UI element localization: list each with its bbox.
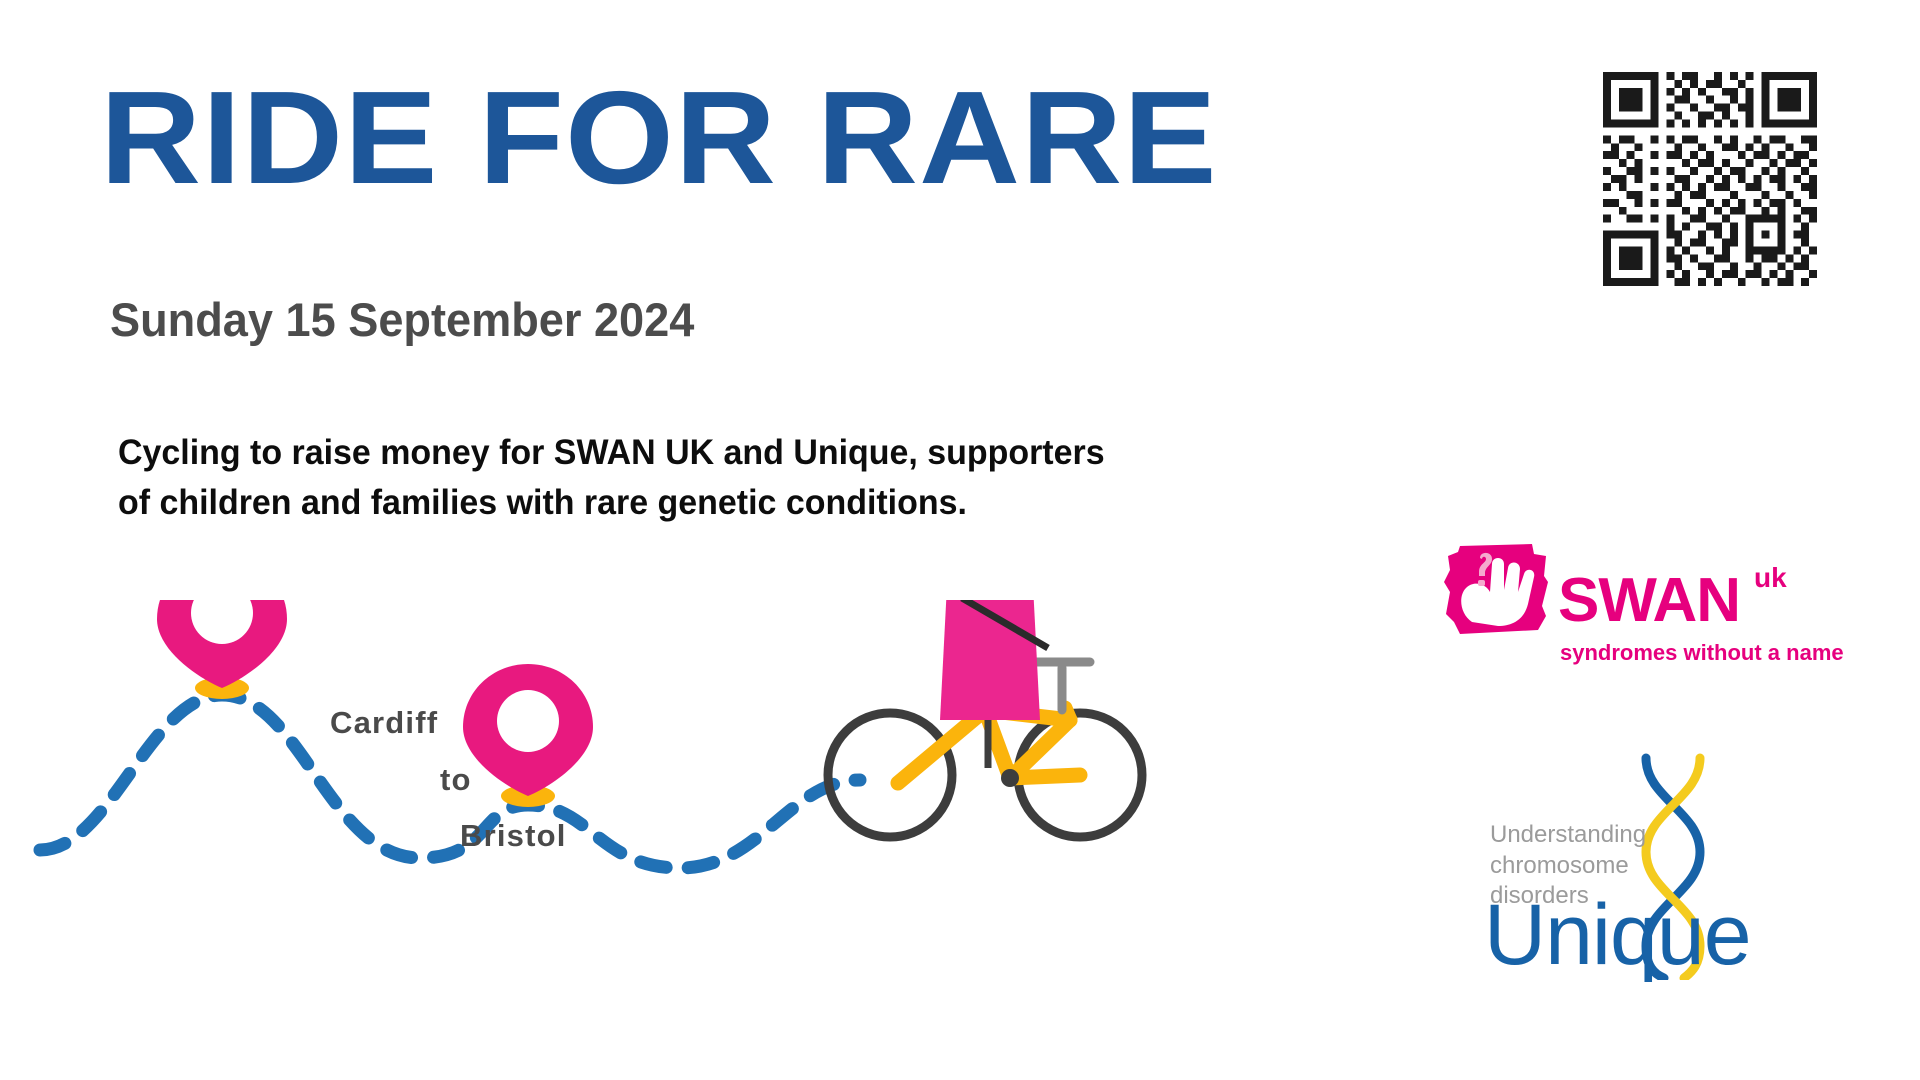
unique-wordmark: Unique <box>1484 892 1751 978</box>
qr-code[interactable] <box>1595 64 1825 294</box>
bike-rear-wheel <box>828 713 952 837</box>
unique-logo[interactable]: Understanding chromosome disorders Uniqu… <box>1478 752 1798 980</box>
page-title: RIDE FOR RARE <box>100 72 1218 204</box>
bike-crank <box>1001 769 1019 787</box>
event-description: Cycling to raise money for SWAN UK and U… <box>118 428 1437 527</box>
poster-canvas: RIDE FOR RARE Sunday 15 September 2024 C… <box>0 0 1920 1080</box>
swan-uk-logo[interactable]: SWAN uk syndromes without a name <box>1442 542 1812 687</box>
pin-cardiff <box>157 600 287 699</box>
swan-wordmark: SWAN <box>1558 570 1740 632</box>
swan-uk-superscript: uk <box>1754 562 1787 594</box>
unique-strapline-line-1: Understanding <box>1490 821 1646 848</box>
swan-tagline: syndromes without a name <box>1560 640 1844 666</box>
route-label-bristol: Bristol <box>460 818 567 854</box>
route-map-illustration <box>0 600 1200 1060</box>
qr-code-icon <box>1595 64 1825 294</box>
event-date: Sunday 15 September 2024 <box>110 296 694 343</box>
pin-bristol <box>463 664 593 807</box>
event-description-line-1: Cycling to raise money for SWAN UK and U… <box>118 433 1105 472</box>
swan-hand-icon <box>1442 542 1550 637</box>
route-label-to: to <box>440 762 472 798</box>
event-description-line-2: of children and families with rare genet… <box>118 478 1437 528</box>
unique-strapline-line-2: chromosome <box>1490 852 1629 879</box>
cyclist-illustration <box>828 600 1142 837</box>
route-label-cardiff: Cardiff <box>330 705 438 741</box>
